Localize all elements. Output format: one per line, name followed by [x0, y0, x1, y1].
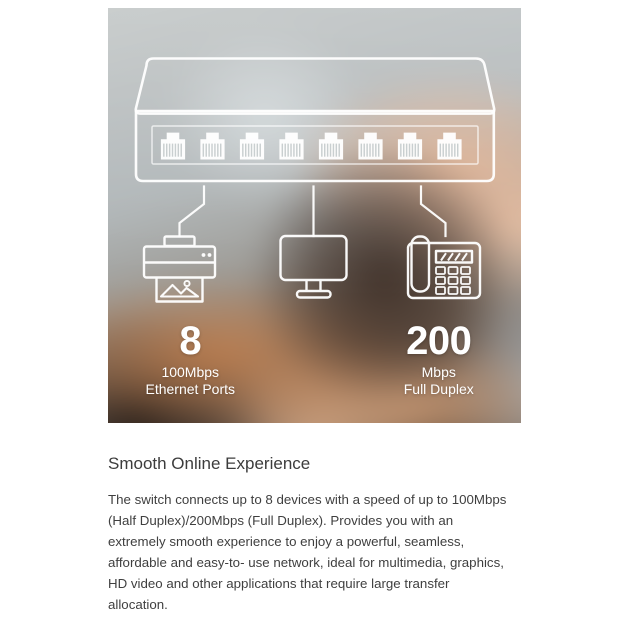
stat-line-1: Mbps	[357, 364, 522, 381]
monitor-icon	[281, 236, 347, 298]
rj45-port-1	[161, 133, 185, 160]
rj45-port-8	[437, 133, 461, 160]
switch-chassis-top	[136, 59, 494, 114]
stat-line-2: Full Duplex	[357, 381, 522, 398]
rj45-port-3	[240, 133, 264, 160]
hero-image: 8 100Mbps Ethernet Ports 200 Mbps Full D…	[108, 8, 521, 423]
connector-line-phone	[421, 187, 446, 237]
printer-icon	[144, 237, 215, 302]
section-paragraph: The switch connects up to 8 devices with…	[108, 489, 508, 615]
stat-ethernet-ports: 8 100Mbps Ethernet Ports	[108, 320, 327, 398]
rj45-port-group	[161, 133, 462, 160]
product-feature-section: 8 100Mbps Ethernet Ports 200 Mbps Full D…	[0, 0, 640, 640]
rj45-port-6	[358, 133, 382, 160]
connector-line-printer	[180, 187, 205, 237]
rj45-port-2	[200, 133, 224, 160]
rj45-port-5	[319, 133, 343, 160]
section-heading: Smooth Online Experience	[108, 452, 310, 476]
stat-line-1: 100Mbps	[108, 364, 273, 381]
stat-value: 8	[108, 320, 273, 362]
stat-value: 200	[357, 320, 522, 362]
stat-line-2: Ethernet Ports	[108, 381, 273, 398]
desk-phone-icon	[408, 237, 480, 299]
hero-stats: 8 100Mbps Ethernet Ports 200 Mbps Full D…	[108, 320, 521, 398]
rj45-port-7	[398, 133, 422, 160]
stat-full-duplex: 200 Mbps Full Duplex	[327, 320, 522, 398]
rj45-port-4	[279, 133, 303, 160]
